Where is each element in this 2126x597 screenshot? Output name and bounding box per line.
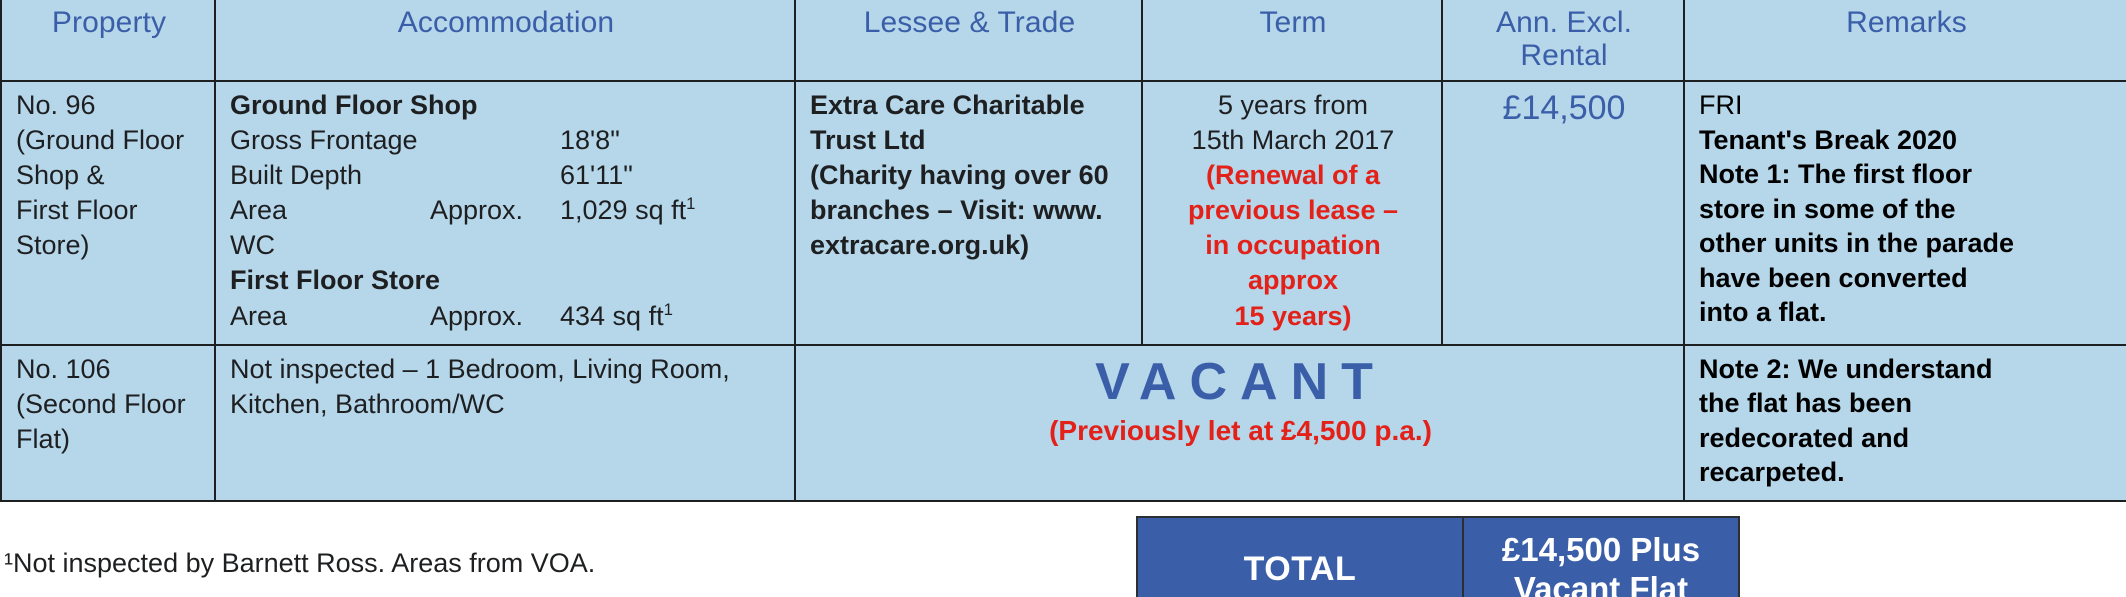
term-line: 15th March 2017 bbox=[1157, 123, 1429, 158]
column-header-lessee-trade: Lessee & Trade bbox=[795, 0, 1142, 81]
table-header-row: Property Accommodation Lessee & Trade Te… bbox=[1, 0, 2126, 81]
vacant-previous-rent-note: (Previously let at £4,500 p.a.) bbox=[810, 410, 1671, 448]
accommodation-description-2: Not inspected – 1 Bedroom, Living Room, … bbox=[230, 352, 782, 422]
accommodation-value: 434 sq ft1 bbox=[560, 299, 782, 334]
property-line: First Floor bbox=[16, 193, 202, 228]
accommodation-approx bbox=[430, 158, 560, 193]
column-header-remarks: Remarks bbox=[1684, 0, 2126, 81]
column-header-property: Property bbox=[1, 0, 215, 81]
accommodation-label: WC bbox=[230, 228, 430, 263]
accommodation-heading: First Floor Store bbox=[230, 263, 782, 298]
footnote-marker: 1 bbox=[664, 300, 673, 319]
remarks-line: Note 1: The first floor bbox=[1699, 157, 2114, 192]
accommodation-schedule: Ground Floor Shop Gross Frontage 18'8" B… bbox=[230, 88, 782, 334]
lessee-line: Extra Care Charitable bbox=[810, 88, 1129, 123]
column-header-term: Term bbox=[1142, 0, 1442, 81]
remarks-line: into a flat. bbox=[1699, 295, 2114, 330]
accommodation-value bbox=[560, 228, 782, 263]
accommodation-value: 61'11" bbox=[560, 158, 782, 193]
accommodation-label: Built Depth bbox=[230, 158, 430, 193]
term-renewal-line: in occupation approx bbox=[1157, 228, 1429, 298]
lessee-name: Extra Care Charitable Trust Ltd (Charity… bbox=[810, 88, 1129, 263]
column-header-accommodation: Accommodation bbox=[215, 0, 795, 81]
table-footer: ¹Not inspected by Barnett Ross. Areas fr… bbox=[0, 502, 2126, 597]
annual-rental-value: £14,500 bbox=[1457, 88, 1671, 129]
total-label: TOTAL bbox=[1138, 518, 1464, 597]
cell-remarks-1: FRI Tenant's Break 2020 Note 1: The firs… bbox=[1684, 81, 2126, 345]
term-dates: 5 years from 15th March 2017 bbox=[1157, 88, 1429, 158]
total-value-line-2: Vacant Flat bbox=[1502, 570, 1700, 597]
table-row: No. 106 (Second Floor Flat) Not inspecte… bbox=[1, 345, 2126, 501]
remarks-tenure: FRI bbox=[1699, 88, 2114, 123]
accommodation-value-text: 1,029 sq ft bbox=[560, 195, 686, 225]
remarks-line: the flat has been bbox=[1699, 386, 2114, 421]
accommodation-approx bbox=[430, 228, 560, 263]
accommodation-approx: Approx. bbox=[430, 193, 560, 228]
lot-table: Property Accommodation Lessee & Trade Te… bbox=[0, 0, 2126, 502]
column-header-term-label: Term bbox=[1157, 6, 1429, 39]
property-lines-2: No. 106 (Second Floor Flat) bbox=[16, 352, 202, 457]
accommodation-label: Area bbox=[230, 299, 430, 334]
cell-accommodation-1: Ground Floor Shop Gross Frontage 18'8" B… bbox=[215, 81, 795, 345]
lessee-line: extracare.org.uk) bbox=[810, 228, 1129, 263]
column-header-remarks-label: Remarks bbox=[1846, 6, 1967, 39]
total-value: £14,500 Plus Vacant Flat bbox=[1464, 518, 1738, 597]
lessee-line: Trust Ltd bbox=[810, 123, 1129, 158]
remarks-line: other units in the parade bbox=[1699, 226, 2114, 261]
column-header-property-label: Property bbox=[52, 6, 166, 39]
table-row: No. 96 (Ground Floor Shop & First Floor … bbox=[1, 81, 2126, 345]
property-line: (Ground Floor bbox=[16, 123, 202, 158]
accommodation-label: Area bbox=[230, 193, 430, 228]
footnote-text: ¹Not inspected by Barnett Ross. Areas fr… bbox=[4, 547, 595, 579]
cell-vacant-status: VACANT (Previously let at £4,500 p.a.) bbox=[795, 345, 1684, 501]
property-line: Store) bbox=[16, 228, 202, 263]
remarks-line: Tenant's Break 2020 bbox=[1699, 123, 2114, 158]
cell-term-1: 5 years from 15th March 2017 (Renewal of… bbox=[1142, 81, 1442, 345]
remarks-line: store in some of the bbox=[1699, 192, 2114, 227]
accommodation-value: 1,029 sq ft1 bbox=[560, 193, 782, 228]
lessee-line: branches – Visit: www. bbox=[810, 193, 1129, 228]
cell-annual-rental-1: £14,500 bbox=[1442, 81, 1684, 345]
column-header-accommodation-label: Accommodation bbox=[398, 6, 614, 39]
vacant-status-badge: VACANT bbox=[810, 352, 1671, 410]
term-renewal-line: 15 years) bbox=[1157, 299, 1429, 334]
cell-property-1: No. 96 (Ground Floor Shop & First Floor … bbox=[1, 81, 215, 345]
property-line: Shop & bbox=[16, 158, 202, 193]
remarks-notes-2: Note 2: We understand the flat has been … bbox=[1699, 352, 2114, 490]
cell-accommodation-2: Not inspected – 1 Bedroom, Living Room, … bbox=[215, 345, 795, 501]
accommodation-line: Kitchen, Bathroom/WC bbox=[230, 387, 782, 422]
property-line: (Second Floor bbox=[16, 387, 202, 422]
property-line: No. 106 bbox=[16, 352, 202, 387]
remarks-line: redecorated and bbox=[1699, 421, 2114, 456]
cell-remarks-2: Note 2: We understand the flat has been … bbox=[1684, 345, 2126, 501]
property-line: No. 96 bbox=[16, 88, 202, 123]
remarks-line: have been converted bbox=[1699, 261, 2114, 296]
column-header-annual-rental-label: Ann. Excl. Rental bbox=[1457, 6, 1671, 72]
term-renewal-note: (Renewal of a previous lease – in occupa… bbox=[1157, 158, 1429, 333]
property-line: Flat) bbox=[16, 422, 202, 457]
total-value-line-1: £14,500 Plus bbox=[1502, 531, 1700, 570]
property-lines-1: No. 96 (Ground Floor Shop & First Floor … bbox=[16, 88, 202, 263]
accommodation-approx: Approx. bbox=[430, 299, 560, 334]
term-renewal-line: previous lease – bbox=[1157, 193, 1429, 228]
remarks-notes-1: Tenant's Break 2020 Note 1: The first fl… bbox=[1699, 123, 2114, 330]
remarks-line: recarpeted. bbox=[1699, 455, 2114, 490]
lot-details-sheet: Property Accommodation Lessee & Trade Te… bbox=[0, 0, 2126, 597]
remarks-line: Note 2: We understand bbox=[1699, 352, 2114, 387]
cell-lessee-trade-1: Extra Care Charitable Trust Ltd (Charity… bbox=[795, 81, 1142, 345]
cell-property-2: No. 106 (Second Floor Flat) bbox=[1, 345, 215, 501]
accommodation-line: Not inspected – 1 Bedroom, Living Room, bbox=[230, 352, 782, 387]
lessee-line: (Charity having over 60 bbox=[810, 158, 1129, 193]
term-line: 5 years from bbox=[1157, 88, 1429, 123]
footnote-marker: 1 bbox=[686, 194, 695, 213]
column-header-lessee-trade-label: Lessee & Trade bbox=[864, 6, 1076, 39]
accommodation-heading: Ground Floor Shop bbox=[230, 88, 782, 123]
term-renewal-line: (Renewal of a bbox=[1157, 158, 1429, 193]
accommodation-approx bbox=[430, 123, 560, 158]
accommodation-value-text: 434 sq ft bbox=[560, 301, 664, 331]
total-box: TOTAL £14,500 Plus Vacant Flat bbox=[1136, 516, 1740, 597]
column-header-annual-rental: Ann. Excl. Rental bbox=[1442, 0, 1684, 81]
accommodation-label: Gross Frontage bbox=[230, 123, 430, 158]
accommodation-value: 18'8" bbox=[560, 123, 782, 158]
